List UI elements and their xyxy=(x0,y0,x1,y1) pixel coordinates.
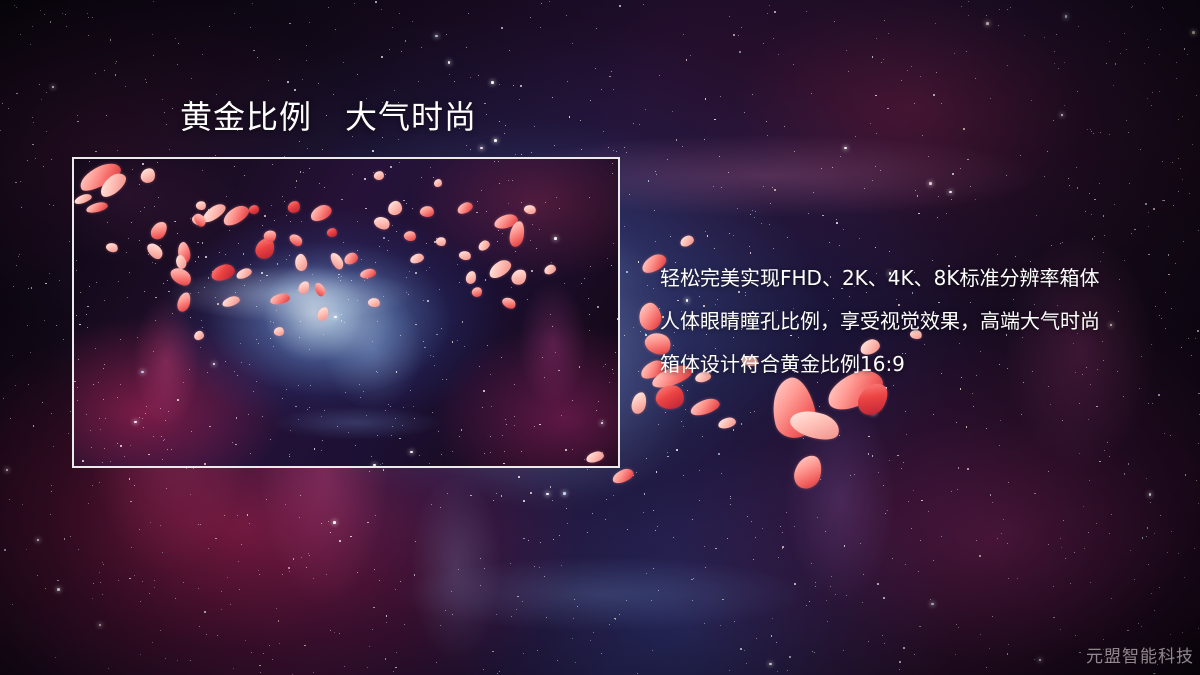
watermark: 元盟智能科技 xyxy=(1086,642,1194,667)
petal xyxy=(787,405,843,445)
slide-canvas: 黄金比例 大气时尚 轻松完美实现FHD、2K、4K、8K标准分辨率箱体 人体眼睛… xyxy=(0,0,1200,675)
framed-image-core-glow xyxy=(74,159,618,466)
petal xyxy=(611,467,636,486)
petal xyxy=(717,416,737,430)
body-line-1: 轻松完美实现FHD、2K、4K、8K标准分辨率箱体 xyxy=(660,257,1160,300)
petal xyxy=(791,452,824,491)
framed-image xyxy=(72,157,620,468)
body-line-3: 箱体设计符合黄金比例16:9 xyxy=(660,343,1160,386)
petal xyxy=(654,383,685,411)
petal xyxy=(689,396,722,418)
body-line-2: 人体眼睛瞳孔比例，享受视觉效果，高端大气时尚 xyxy=(660,300,1160,343)
petal xyxy=(630,391,648,415)
page-title: 黄金比例 大气时尚 xyxy=(180,101,477,133)
framed-image-inner xyxy=(74,159,618,466)
body-copy: 轻松完美实现FHD、2K、4K、8K标准分辨率箱体 人体眼睛瞳孔比例，享受视觉效… xyxy=(660,257,1160,386)
petal xyxy=(679,234,696,248)
